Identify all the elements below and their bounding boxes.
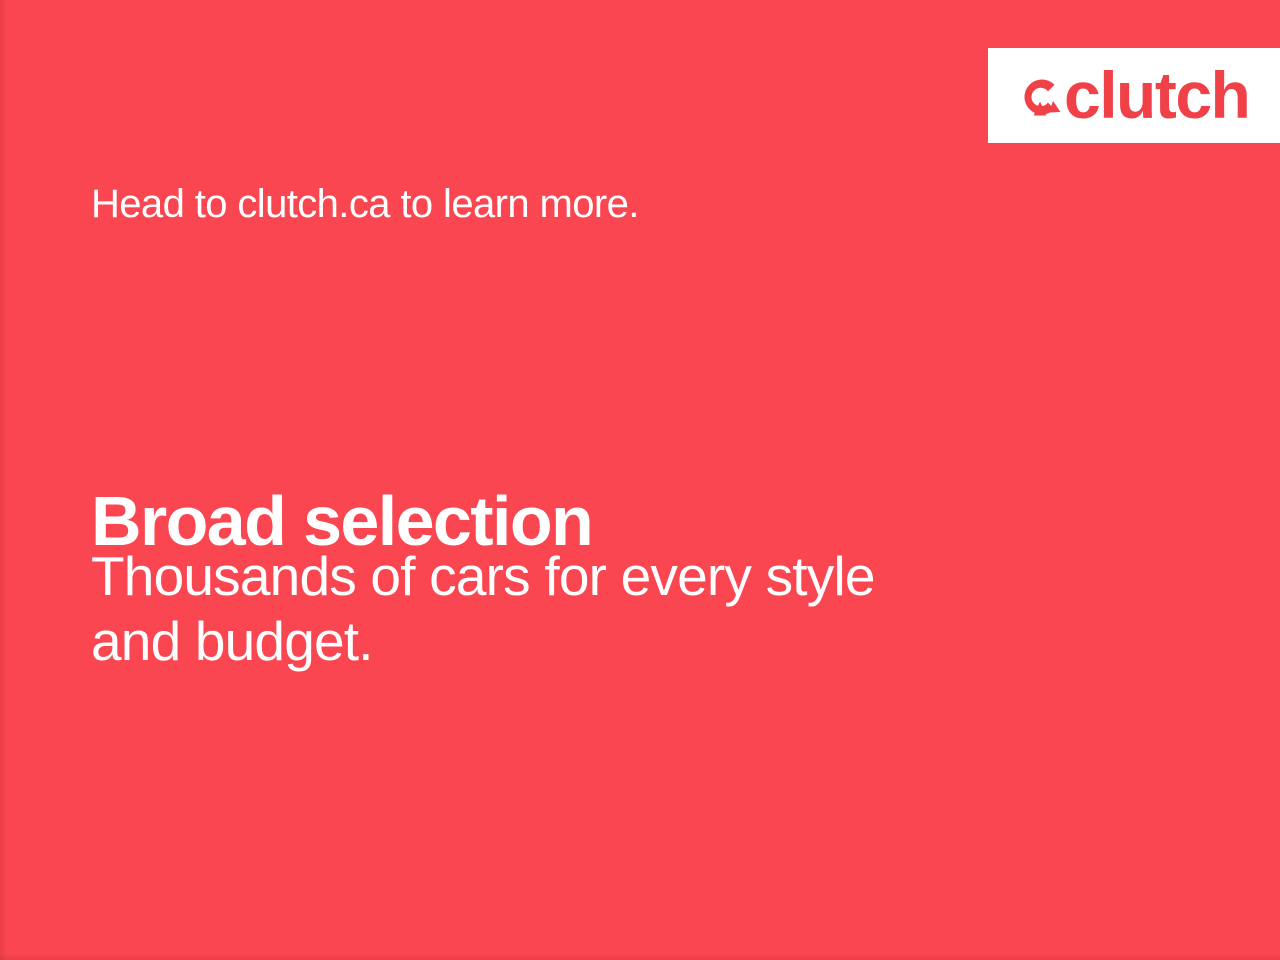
left-edge-shadow: [0, 0, 7, 960]
subheading-line-2: and budget.: [91, 609, 1041, 674]
slide-subheading: Thousands of cars for every style and bu…: [91, 544, 1041, 674]
bottom-edge-shadow: [0, 953, 1280, 960]
clutch-logo-lockup[interactable]: clutch: [1018, 68, 1249, 122]
clutch-plate-icon: [1018, 71, 1062, 123]
slide-canvas: clutch Head to clutch.ca to learn more. …: [0, 0, 1280, 960]
brand-wordmark: clutch: [1064, 68, 1249, 122]
eyebrow-text: Head to clutch.ca to learn more.: [91, 181, 639, 227]
brand-logo-plate[interactable]: clutch: [988, 48, 1280, 143]
subheading-line-1: Thousands of cars for every style: [91, 544, 1041, 609]
